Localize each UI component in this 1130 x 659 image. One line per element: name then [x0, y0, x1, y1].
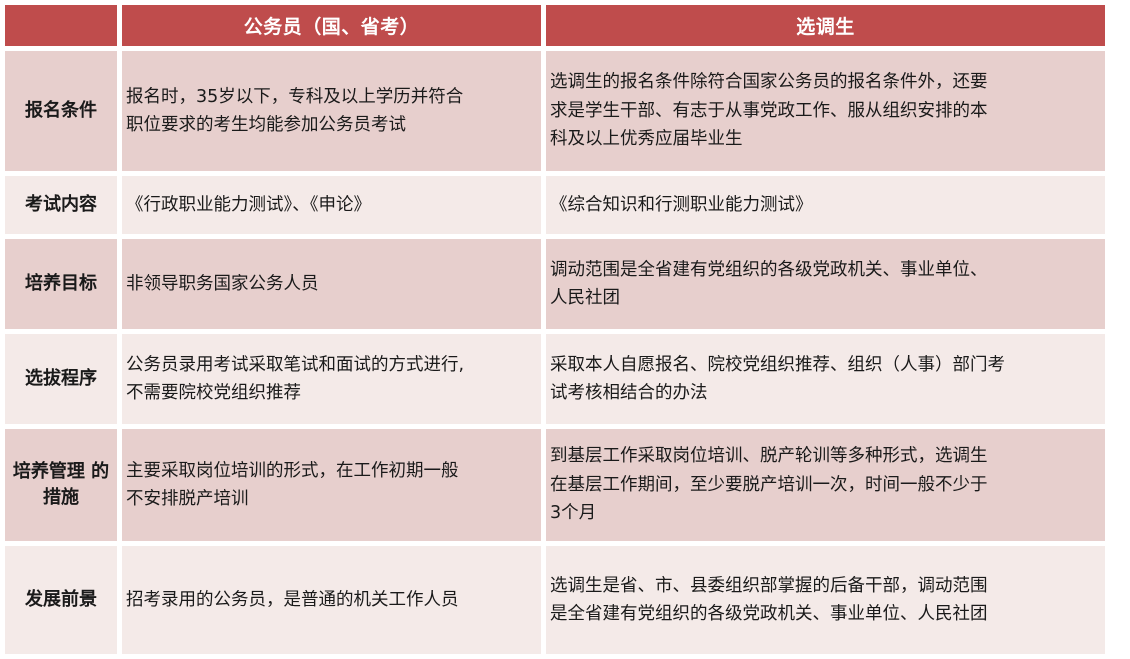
cell-gongwuyuan-peiyang-guanli: 主要采取岗位培训的形式，在工作初期一般 不安排脱产培训 — [122, 429, 541, 541]
table-row: 培养管理 的措施 主要采取岗位培训的形式，在工作初期一般 不安排脱产培训 到基层… — [5, 429, 1105, 541]
text-line: 《综合知识和行测职业能力测试》 — [550, 191, 1103, 219]
text-line: 主要采取岗位培训的形式，在工作初期一般 — [126, 457, 539, 485]
table-row: 选拔程序 公务员录用考试采取笔试和面试的方式进行, 不需要院校党组织推荐 采取本… — [5, 334, 1105, 424]
cell-gongwuyuan-fazhan-qianjing: 招考录用的公务员，是普通的机关工作人员 — [122, 546, 541, 654]
text-line: 采取本人自愿报名、院校党组织推荐、组织（人事）部门考 — [550, 351, 1103, 379]
text-line: 到基层工作采取岗位培训、脱产轮训等多种形式，选调生 — [550, 442, 1103, 470]
text-line: 求是学生干部、有志于从事党政工作、服从组织安排的本 — [550, 97, 1103, 125]
table-row: 报名条件 报名时，35岁以下，专科及以上学历并符合 职位要求的考生均能参加公务员… — [5, 51, 1105, 171]
cell-xuandiaosheng-xuanba-chengxu: 采取本人自愿报名、院校党组织推荐、组织（人事）部门考 试考核相结合的办法 — [546, 334, 1105, 424]
cell-gongwuyuan-peiyang-mubiao: 非领导职务国家公务人员 — [122, 239, 541, 329]
row-label-kaoshi-neirong: 考试内容 — [5, 176, 117, 234]
header-row: 公务员（国、省考） 选调生 — [5, 5, 1105, 46]
cell-gongwuyuan-kaoshi-neirong: 《行政职业能力测试》、《申论》 — [122, 176, 541, 234]
text-line: 3个月 — [550, 499, 1103, 527]
table-row: 考试内容 《行政职业能力测试》、《申论》 《综合知识和行测职业能力测试》 — [5, 176, 1105, 234]
text-line: 是全省建有党组织的各级党政机关、事业单位、人民社团 — [550, 600, 1103, 628]
row-label-xuanba-chengxu: 选拔程序 — [5, 334, 117, 424]
text-line: 人民社团 — [550, 284, 1103, 312]
cell-gongwuyuan-baoming-tiaojian: 报名时，35岁以下，专科及以上学历并符合 职位要求的考生均能参加公务员考试 — [122, 51, 541, 171]
header-cell-blank — [5, 5, 117, 46]
text-line: 不安排脱产培训 — [126, 485, 539, 513]
row-label-baoming-tiaojian: 报名条件 — [5, 51, 117, 171]
text-line: 选调生是省、市、县委组织部掌握的后备干部，调动范围 — [550, 572, 1103, 600]
header-cell-gongwuyuan: 公务员（国、省考） — [122, 5, 541, 46]
cell-xuandiaosheng-peiyang-guanli: 到基层工作采取岗位培训、脱产轮训等多种形式，选调生 在基层工作期间，至少要脱产培… — [546, 429, 1105, 541]
text-line: 培养管理 — [13, 461, 85, 482]
table-header: 公务员（国、省考） 选调生 — [5, 5, 1105, 46]
comparison-table: 公务员（国、省考） 选调生 报名条件 报名时，35岁以下，专科及以上学历并符合 … — [0, 0, 1110, 659]
cell-xuandiaosheng-peiyang-mubiao: 调动范围是全省建有党组织的各级党政机关、事业单位、 人民社团 — [546, 239, 1105, 329]
text-line: 招考录用的公务员，是普通的机关工作人员 — [126, 586, 539, 614]
row-label-fazhan-qianjing: 发展前景 — [5, 546, 117, 654]
text-line: 不需要院校党组织推荐 — [126, 379, 539, 407]
cell-gongwuyuan-xuanba-chengxu: 公务员录用考试采取笔试和面试的方式进行, 不需要院校党组织推荐 — [122, 334, 541, 424]
cell-xuandiaosheng-baoming-tiaojian: 选调生的报名条件除符合国家公务员的报名条件外，还要 求是学生干部、有志于从事党政… — [546, 51, 1105, 171]
text-line: 报名时，35岁以下，专科及以上学历并符合 — [126, 83, 539, 111]
table-row: 培养目标 非领导职务国家公务人员 调动范围是全省建有党组织的各级党政机关、事业单… — [5, 239, 1105, 329]
text-line: 科及以上优秀应届毕业生 — [550, 125, 1103, 153]
text-line: 在基层工作期间，至少要脱产培训一次，时间一般不少于 — [550, 471, 1103, 499]
text-line: 试考核相结合的办法 — [550, 379, 1103, 407]
text-line: 公务员录用考试采取笔试和面试的方式进行, — [126, 351, 539, 379]
table-row: 发展前景 招考录用的公务员，是普通的机关工作人员 选调生是省、市、县委组织部掌握… — [5, 546, 1105, 654]
row-label-peiyang-mubiao: 培养目标 — [5, 239, 117, 329]
text-line: 非领导职务国家公务人员 — [126, 270, 539, 298]
text-line: 职位要求的考生均能参加公务员考试 — [126, 111, 539, 139]
cell-xuandiaosheng-kaoshi-neirong: 《综合知识和行测职业能力测试》 — [546, 176, 1105, 234]
text-line: 《行政职业能力测试》、《申论》 — [126, 191, 539, 219]
header-cell-xuandiaosheng: 选调生 — [546, 5, 1105, 46]
text-line: 选调生的报名条件除符合国家公务员的报名条件外，还要 — [550, 68, 1103, 96]
comparison-table-container: 公务员（国、省考） 选调生 报名条件 报名时，35岁以下，专科及以上学历并符合 … — [0, 0, 1130, 651]
text-line: 调动范围是全省建有党组织的各级党政机关、事业单位、 — [550, 256, 1103, 284]
row-label-peiyang-guanli-de-cuoshi: 培养管理 的措施 — [5, 429, 117, 541]
cell-xuandiaosheng-fazhan-qianjing: 选调生是省、市、县委组织部掌握的后备干部，调动范围 是全省建有党组织的各级党政机… — [546, 546, 1105, 654]
table-body: 报名条件 报名时，35岁以下，专科及以上学历并符合 职位要求的考生均能参加公务员… — [5, 51, 1105, 654]
